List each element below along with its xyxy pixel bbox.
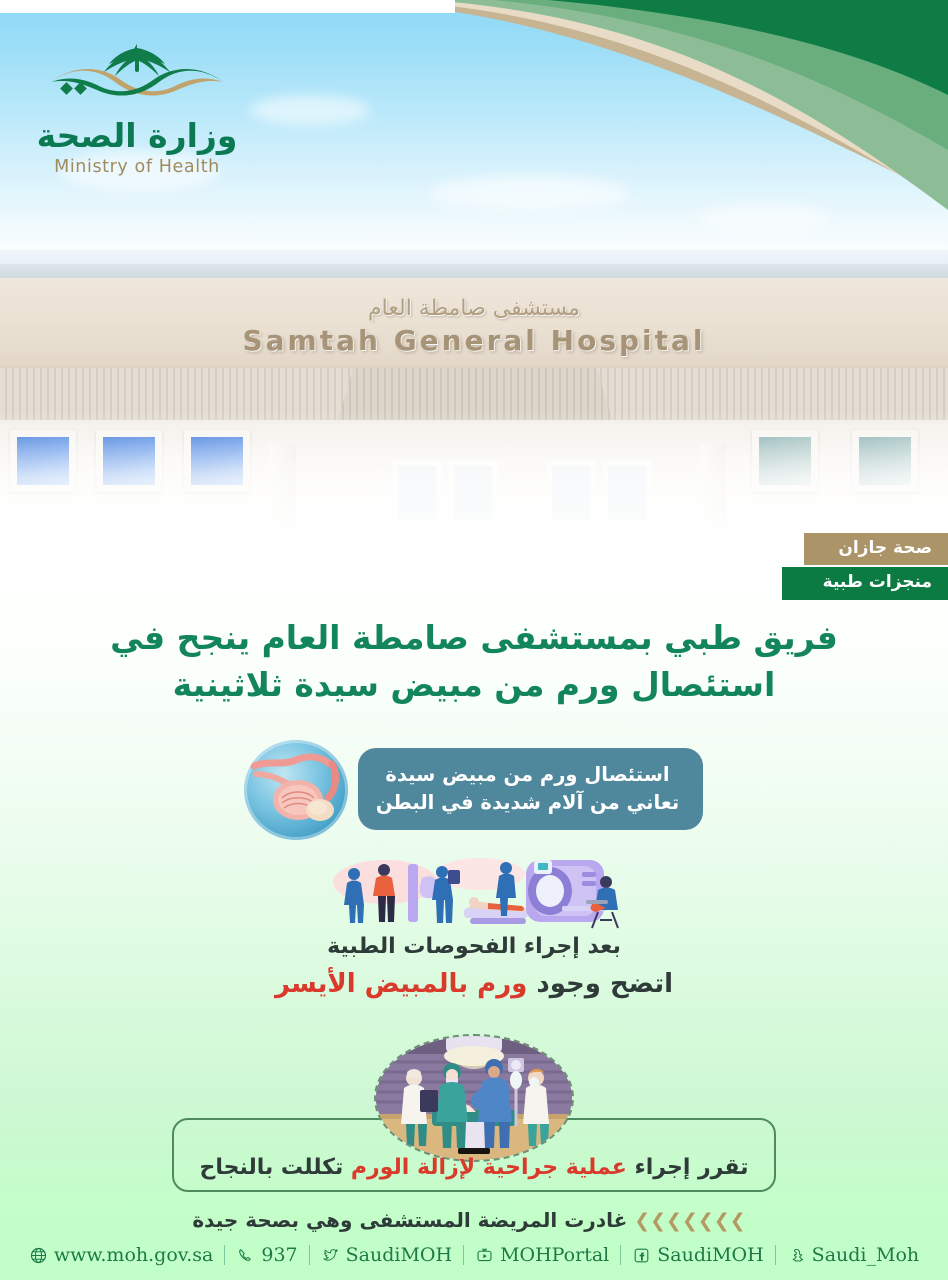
surgery-circle-frame xyxy=(374,1034,574,1162)
footer-item-twitter[interactable]: SaudiMOH xyxy=(310,1244,463,1266)
footer-label-youtube: MOHPortal xyxy=(500,1244,609,1266)
poster-root: وزارة الصحة Ministry of Health مستشفى صا… xyxy=(0,0,948,1280)
surgery-text-prefix: تقرر إجراء xyxy=(634,1155,748,1180)
phone-icon xyxy=(236,1246,255,1265)
hospital-sign-english: Samtah General Hospital xyxy=(0,324,948,357)
surgery-text-highlight: عملية جراحية لإزالة الورم xyxy=(351,1155,627,1180)
footer-item-website[interactable]: www.moh.gov.sa xyxy=(18,1244,225,1266)
surgery-text-suffix: تكللت بالنجاح xyxy=(200,1155,344,1180)
exam-line-1: بعد إجراء الفحوصات الطبية xyxy=(0,930,948,963)
discharge-text: غادرت المريضة المستشفى وهي بصحة جيدة xyxy=(192,1208,627,1232)
hospital-sign-wall: مستشفى صامطة العام Samtah General Hospit… xyxy=(0,278,948,368)
footer-item-phone[interactable]: 937 xyxy=(225,1244,308,1266)
logo-english-text: Ministry of Health xyxy=(22,157,252,177)
operating-room-illustration xyxy=(374,1034,574,1162)
summary-pill-group: استئصال ورم من مبيض سيدة تعاني من آلام ش… xyxy=(0,740,948,840)
globe-icon xyxy=(29,1246,48,1265)
exam-line-2-prefix: اتضح وجود xyxy=(536,969,673,999)
footer-item-snapchat[interactable]: Saudi_Moh xyxy=(776,1244,930,1266)
facebook-icon xyxy=(632,1246,651,1265)
ovary-anatomy-icon xyxy=(244,740,348,840)
summary-pill-text: استئصال ورم من مبيض سيدة تعاني من آلام ش… xyxy=(364,761,697,818)
footer-item-facebook[interactable]: SaudiMOH xyxy=(621,1244,774,1266)
discharge-line: ❯❯❯❯❯❯❯ غادرت المريضة المستشفى وهي بصحة … xyxy=(0,1208,948,1232)
badge-group: صحة جازان منجزات طبية xyxy=(782,533,948,600)
top-white-strip xyxy=(0,0,455,13)
exam-line-2-highlight: ورم بالمبيض الأيسر xyxy=(275,969,527,999)
summary-pill-line2: تعاني من آلام شديدة في البطن xyxy=(376,789,679,817)
hospital-sign-arabic: مستشفى صامطة العام xyxy=(0,296,948,321)
footer-contact-bar: www.moh.gov.sa 937 SaudiMOH MOHPortal xyxy=(0,1236,948,1274)
footer-item-youtube[interactable]: MOHPortal xyxy=(464,1244,620,1266)
page-title: فريق طبي بمستشفى صامطة العام ينجح في است… xyxy=(72,615,876,709)
hospital-photo: مستشفى صامطة العام Samtah General Hospit… xyxy=(0,250,948,550)
badge-region: صحة جازان xyxy=(804,533,948,565)
footer-label-website: www.moh.gov.sa xyxy=(54,1244,214,1266)
summary-pill-line1: استئصال ورم من مبيض سيدة xyxy=(376,761,679,789)
moh-logo: وزارة الصحة Ministry of Health xyxy=(22,38,252,177)
exam-result-text: بعد إجراء الفحوصات الطبية اتضح وجود ورم … xyxy=(0,930,948,1004)
roof-band xyxy=(0,264,948,278)
photo-fade-mask xyxy=(0,410,948,550)
footer-label-snapchat: Saudi_Moh xyxy=(812,1244,919,1266)
youtube-icon xyxy=(475,1246,494,1265)
footer-label-facebook: SaudiMOH xyxy=(657,1244,763,1266)
snapchat-icon xyxy=(787,1246,806,1265)
twitter-icon xyxy=(321,1246,340,1265)
footer-label-twitter: SaudiMOH xyxy=(346,1244,452,1266)
footer-label-phone: 937 xyxy=(261,1244,297,1266)
logo-arabic-text: وزارة الصحة xyxy=(22,118,252,154)
mri-scan-illustration xyxy=(330,856,630,934)
moh-palm-swords-logo-icon xyxy=(37,38,237,116)
summary-pill: استئصال ورم من مبيض سيدة تعاني من آلام ش… xyxy=(358,748,703,830)
surgery-result-text: تقرر إجراء عملية جراحية لإزالة الورم تكل… xyxy=(172,1155,776,1180)
chevron-icon-group: ❯❯❯❯❯❯❯ xyxy=(634,1210,745,1232)
exam-line-2: اتضح وجود ورم بالمبيض الأيسر xyxy=(0,965,948,1004)
badge-category: منجزات طبية xyxy=(782,567,948,599)
swoosh-decoration xyxy=(228,0,948,210)
